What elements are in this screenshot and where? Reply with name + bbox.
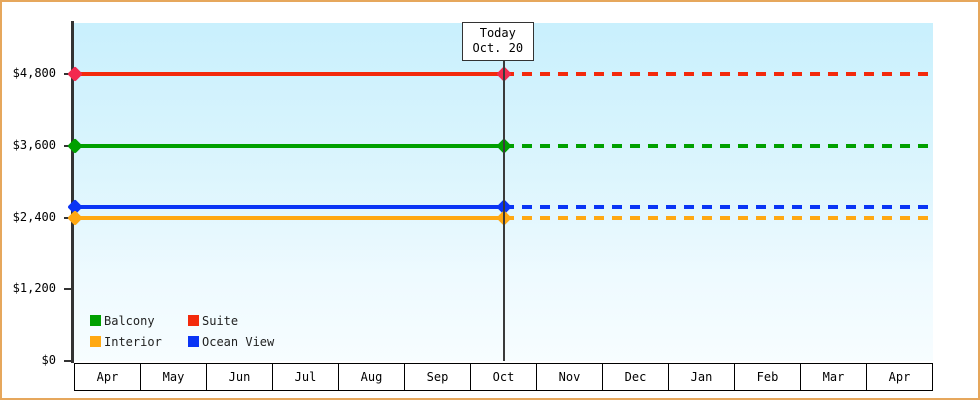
series-line-solid-suite <box>74 72 504 76</box>
cruise-price-chart: $0$1,200$2,400$3,600$4,800 Today Oct. 20… <box>0 0 980 400</box>
x-axis-month-cell[interactable]: Sep <box>404 363 471 391</box>
legend-label: Ocean View <box>202 335 274 349</box>
legend-label: Suite <box>202 314 238 328</box>
x-axis-month-cell[interactable]: Jan <box>668 363 735 391</box>
x-axis-month-cell[interactable]: Jul <box>272 363 339 391</box>
y-tick-mark <box>64 360 72 362</box>
today-vertical-line <box>503 23 505 361</box>
legend-swatch-icon <box>90 336 101 347</box>
x-axis-month-cell[interactable]: Mar <box>800 363 867 391</box>
y-tick-label: $4,800 <box>13 66 56 80</box>
series-line-solid-interior <box>74 216 504 220</box>
today-callout: Today Oct. 20 <box>462 22 535 61</box>
x-axis-months: AprMayJunJulAugSepOctNovDecJanFebMarApr <box>74 363 933 391</box>
legend-label: Balcony <box>104 314 155 328</box>
legend-label: Interior <box>104 335 162 349</box>
series-line-solid-ocean-view <box>74 205 504 209</box>
series-line-forecast-ocean-view <box>504 205 934 209</box>
y-tick-label: $0 <box>42 353 56 367</box>
x-axis-month-cell[interactable]: Nov <box>536 363 603 391</box>
series-line-forecast-suite <box>504 72 934 76</box>
today-label: Today <box>473 26 524 41</box>
series-line-forecast-balcony <box>504 144 934 148</box>
series-line-forecast-interior <box>504 216 934 220</box>
today-date: Oct. 20 <box>473 41 524 56</box>
series-line-solid-balcony <box>74 144 504 148</box>
legend-item-ocean-view[interactable]: Ocean View <box>188 331 274 352</box>
y-tick-mark <box>64 288 72 290</box>
x-axis-month-cell[interactable]: Feb <box>734 363 801 391</box>
x-axis-month-cell[interactable]: May <box>140 363 207 391</box>
legend-item-interior[interactable]: Interior <box>90 331 180 352</box>
y-tick-label: $2,400 <box>13 210 56 224</box>
x-axis-month-cell[interactable]: Apr <box>866 363 933 391</box>
x-axis-month-cell[interactable]: Jun <box>206 363 273 391</box>
x-axis-month-cell[interactable]: Dec <box>602 363 669 391</box>
legend: BalconySuiteInteriorOcean View <box>90 310 274 352</box>
x-axis-month-cell[interactable]: Apr <box>74 363 141 391</box>
legend-item-balcony[interactable]: Balcony <box>90 310 180 331</box>
legend-swatch-icon <box>90 315 101 326</box>
legend-swatch-icon <box>188 315 199 326</box>
y-tick-label: $1,200 <box>13 281 56 295</box>
x-axis-month-cell[interactable]: Aug <box>338 363 405 391</box>
legend-swatch-icon <box>188 336 199 347</box>
x-axis-month-cell[interactable]: Oct <box>470 363 537 391</box>
legend-item-suite[interactable]: Suite <box>188 310 274 331</box>
y-tick-label: $3,600 <box>13 138 56 152</box>
